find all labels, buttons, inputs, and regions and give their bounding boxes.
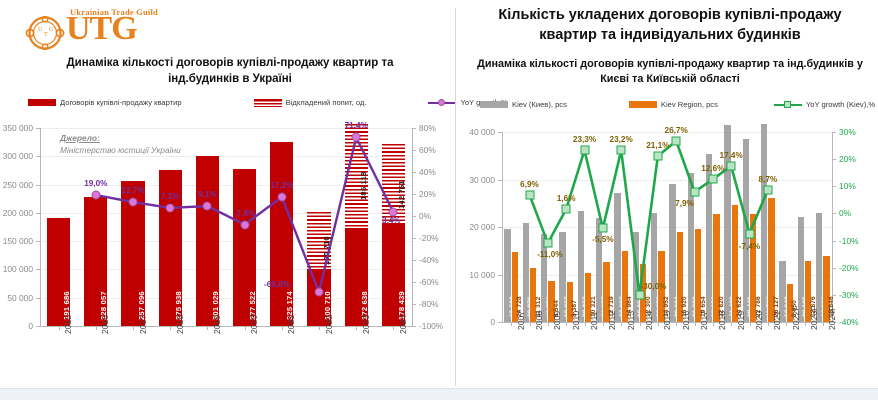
svg-text:G: G: [49, 27, 54, 33]
source-value: Міністерство юстиції України: [60, 144, 181, 156]
yoy-growth-kiev-marker: [635, 290, 644, 299]
marker-square-icon: [653, 152, 662, 161]
yoy-growth-kiev-marker: [562, 205, 571, 214]
yoy-growth-kiev-marker: [763, 185, 772, 194]
yoy-growth-kiev-marker: [727, 162, 736, 171]
yoy-growth-marker: [315, 287, 324, 296]
chart-kyiv: 010 00020 00030 00040 00030%20%10%0%-10%…: [458, 122, 876, 388]
chart-ukraine: 050 000100 000150 000200 000250 000300 0…: [2, 118, 452, 388]
marker-square-icon: [617, 146, 626, 155]
yoy-growth-value-label: 12,7%: [121, 186, 144, 195]
yoy-growth-marker: [352, 133, 361, 142]
yoy-growth-kiev-marker: [653, 152, 662, 161]
panel-divider: [455, 8, 456, 386]
yoy-growth-kiev-marker: [672, 136, 681, 145]
yoy-growth-value-label: 19,0%: [84, 179, 107, 188]
legend-swatch-solid: [480, 101, 508, 108]
legend-swatch-hatch: [254, 99, 282, 107]
yoy-growth-kiev-value-label: -5,5%: [592, 235, 613, 244]
legend-label: YoY growth (Kiev),%: [806, 100, 875, 109]
marker-dot-icon: [203, 201, 212, 210]
yoy-growth-kiev-marker: [745, 229, 754, 238]
source-label: Джерело:: [60, 132, 181, 144]
right-chart-title: Динаміка кількості договорів купівлі-про…: [470, 57, 870, 87]
yoy-growth-kiev-marker: [708, 175, 717, 184]
legend-item-1[interactable]: Відкладений попит, од.: [254, 98, 367, 107]
yoy-growth-kiev-marker: [580, 146, 589, 155]
right-chart-legend: Kiev (Киев), pcsKiev Region, pcsYoY grow…: [480, 100, 860, 109]
marker-square-icon: [543, 239, 552, 248]
yoy-growth-line: [2, 118, 452, 388]
yoy-growth-value-label: 17,2%: [270, 181, 293, 190]
slide-root: U T G Ukrainian Trade Guild UTG Кількіст…: [0, 0, 878, 400]
yoy-growth-kiev-marker: [525, 190, 534, 199]
yoy-growth-kiev-value-label: -7,4%: [739, 242, 760, 251]
yoy-growth-kiev-value-label: 12,6%: [701, 164, 724, 173]
source-note: Джерело: Міністерство юстиції України: [60, 132, 181, 156]
yoy-growth-kiev-line: [458, 122, 876, 388]
marker-square-icon: [745, 229, 754, 238]
yoy-growth-kiev-value-label: 23,3%: [573, 135, 596, 144]
marker-square-icon: [635, 290, 644, 299]
legend-item-2[interactable]: YoY growth (Kiev),%: [774, 100, 875, 109]
legend-swatch-solid: [28, 99, 56, 106]
yoy-growth-kiev-value-label: 21,1%: [646, 141, 669, 150]
utg-emblem-icon: U T G: [22, 16, 68, 50]
marker-dot-icon: [240, 220, 249, 229]
yoy-growth-kiev-value-label: 17,4%: [720, 151, 743, 160]
legend-label: Kiev (Киев), pcs: [512, 100, 567, 109]
yoy-growth-value-label: 71,4%: [345, 121, 368, 130]
yoy-growth-marker: [91, 191, 100, 200]
left-chart-legend: Договорів купівлі-продажу квартирВідклад…: [28, 98, 438, 107]
legend-swatch-line: [774, 100, 802, 109]
svg-text:U: U: [38, 27, 43, 33]
marker-dot-icon: [277, 193, 286, 202]
marker-square-icon: [727, 162, 736, 171]
yoy-growth-kiev-marker: [598, 224, 607, 233]
left-chart-title: Динаміка кількості договорів купівлі-про…: [30, 55, 430, 87]
yoy-growth-kiev-value-label: 23,2%: [610, 135, 633, 144]
yoy-growth-marker: [240, 220, 249, 229]
legend-marker-square: [784, 101, 791, 108]
yoy-growth-kiev-marker: [690, 187, 699, 196]
yoy-growth-marker: [277, 193, 286, 202]
marker-square-icon: [690, 187, 699, 196]
yoy-growth-kiev-value-label: 6,9%: [520, 180, 539, 189]
logo-wordmark: UTG: [66, 12, 137, 46]
yoy-growth-kiev-marker: [617, 146, 626, 155]
legend-swatch-solid: [629, 101, 657, 108]
legend-label: Відкладений попит, од.: [286, 98, 367, 107]
marker-dot-icon: [91, 191, 100, 200]
legend-item-0[interactable]: Договорів купівлі-продажу квартир: [28, 98, 182, 107]
page-title: Кількість укладених договорів купівлі-пр…: [470, 6, 870, 45]
legend-item-0[interactable]: Kiev (Киев), pcs: [480, 100, 567, 109]
utg-logo: U T G Ukrainian Trade Guild UTG: [18, 4, 218, 50]
yoy-growth-kiev-value-label: -30,0%: [641, 282, 667, 291]
marker-square-icon: [672, 136, 681, 145]
legend-item-1[interactable]: Kiev Region, pcs: [629, 100, 718, 109]
yoy-growth-value-label: 7,3%: [161, 192, 180, 201]
marker-dot-icon: [352, 133, 361, 142]
yoy-growth-marker: [129, 198, 138, 207]
yoy-growth-kiev-value-label: 26,7%: [665, 126, 688, 135]
legend-label: Kiev Region, pcs: [661, 100, 718, 109]
yoy-growth-kiev-value-label: 7,9%: [675, 199, 694, 208]
yoy-growth-value-label: 3,4%: [382, 216, 401, 225]
marker-dot-icon: [166, 203, 175, 212]
legend-marker-dot: [438, 99, 445, 106]
marker-square-icon: [708, 175, 717, 184]
marker-square-icon: [562, 205, 571, 214]
yoy-growth-kiev-value-label: 8,7%: [758, 175, 777, 184]
yoy-growth-kiev-value-label: -11,0%: [537, 250, 563, 259]
yoy-growth-marker: [203, 201, 212, 210]
yoy-growth-kiev-marker: [543, 239, 552, 248]
yoy-growth-value-label: -7,8%: [234, 209, 255, 218]
svg-text:T: T: [44, 32, 48, 38]
marker-dot-icon: [315, 287, 324, 296]
marker-square-icon: [525, 190, 534, 199]
marker-square-icon: [580, 146, 589, 155]
yoy-growth-value-label: -69,0%: [264, 280, 290, 289]
marker-square-icon: [598, 224, 607, 233]
legend-swatch-line: [428, 98, 456, 107]
yoy-growth-marker: [166, 203, 175, 212]
marker-square-icon: [763, 185, 772, 194]
yoy-growth-value-label: 9,1%: [198, 190, 217, 199]
marker-dot-icon: [129, 198, 138, 207]
legend-label: Договорів купівлі-продажу квартир: [60, 98, 182, 107]
yoy-growth-kiev-value-label: 1,6%: [557, 194, 576, 203]
slide-footer-bar: [0, 388, 878, 400]
